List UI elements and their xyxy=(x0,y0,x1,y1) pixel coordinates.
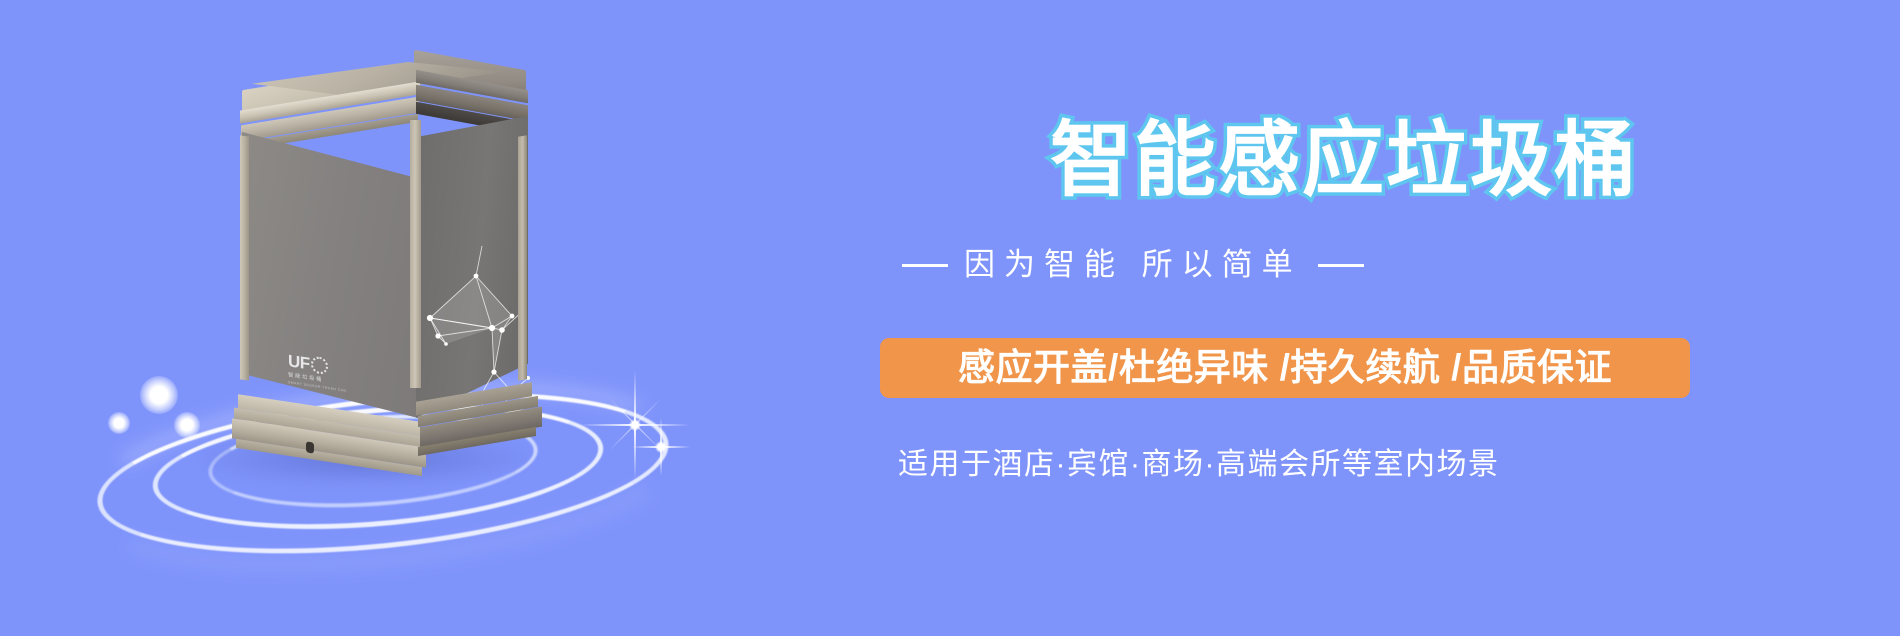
feature-badge: 感应开盖/杜绝异味 /持久续航 /品质保证 xyxy=(880,338,1690,398)
frame-rail-left xyxy=(240,135,249,380)
page-title: 智能感应垃圾桶 xyxy=(1050,120,1638,202)
sparkle-ray-vertical xyxy=(660,418,662,476)
glow-dot-icon-3 xyxy=(108,412,130,434)
sparkle-core xyxy=(629,419,641,431)
sparkle-ray-horizontal xyxy=(580,424,690,426)
feature-badge-label: 感应开盖/杜绝异味 /持久续航 /品质保证 xyxy=(958,348,1612,388)
subtitle-dash-right xyxy=(1318,264,1364,267)
sparkle-icon-large xyxy=(580,370,690,480)
product-scene: UF 智能垃圾桶 SMART SENSOR TRASH CAN xyxy=(0,0,760,636)
sparkle-ray-diagonal-1 xyxy=(609,399,661,451)
subtitle: 因为智能 所以简单 xyxy=(902,248,1364,282)
sparkle-ray-horizontal xyxy=(632,446,690,448)
subtitle-dash-left xyxy=(902,264,948,267)
logo-wordmark: UF xyxy=(288,352,310,372)
sparkle-ray-vertical xyxy=(634,370,636,480)
promo-banner: UF 智能垃圾桶 SMART SENSOR TRASH CAN xyxy=(0,0,1900,636)
sparkle-icon-small xyxy=(632,418,690,476)
dotted-circle-icon xyxy=(311,355,328,375)
glow-dot-icon-1 xyxy=(140,376,178,414)
sensor-port-icon xyxy=(306,441,314,453)
frame-rail-right xyxy=(518,135,527,381)
glow-dot-icon-2 xyxy=(174,412,200,438)
subtitle-text: 因为智能 所以简单 xyxy=(964,248,1302,282)
use-case-line: 适用于酒店·宾馆·商场·高端会所等室内场景 xyxy=(898,448,1499,482)
copy-block: 智能感应垃圾桶 因为智能 所以简单 感应开盖/杜绝异味 /持久续航 /品质保证 … xyxy=(880,0,1880,636)
sparkle-ray-diagonal-2 xyxy=(609,399,661,451)
frame-rail-corner xyxy=(410,120,421,388)
smart-trash-can: UF 智能垃圾桶 SMART SENSOR TRASH CAN xyxy=(228,56,528,456)
sparkle-core xyxy=(655,441,667,453)
